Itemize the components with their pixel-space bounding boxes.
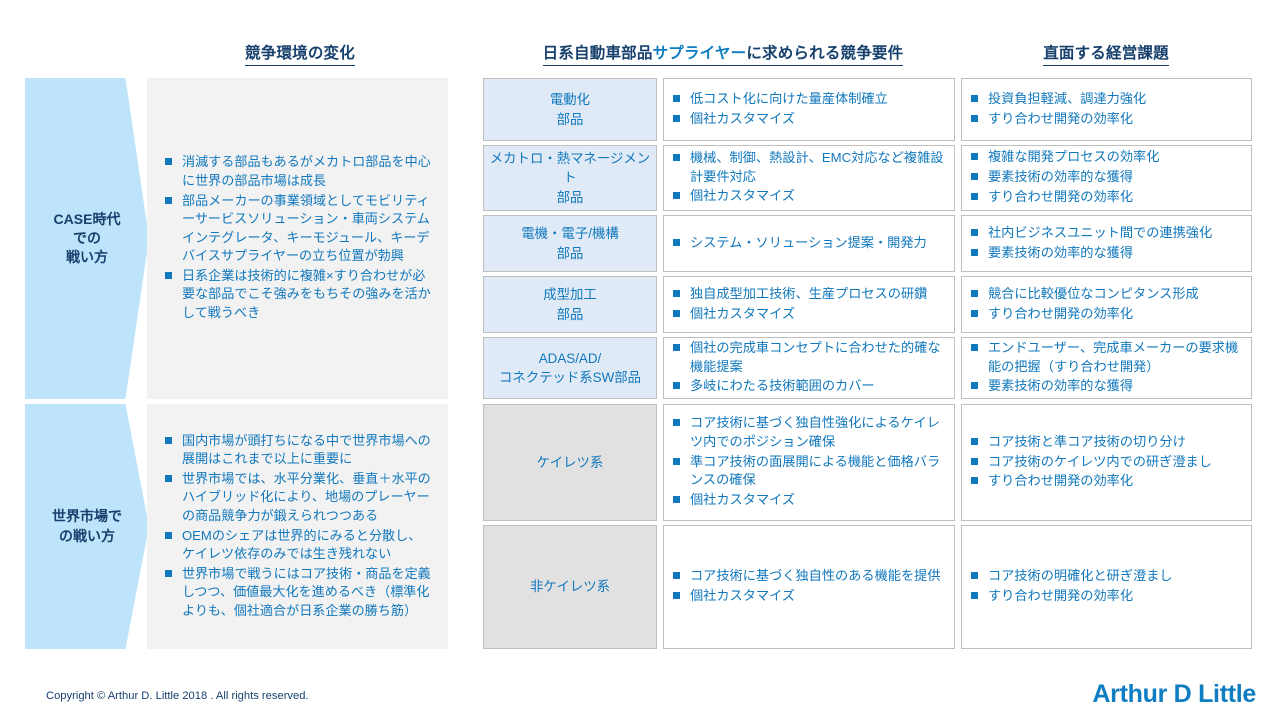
list-item: 要素技術の効率的な獲得 [969,244,1242,263]
list-item: エンドユーザー、完成車メーカーの要求機能の把握（すり合わせ開発） [969,339,1242,376]
list-item: 競合に比較優位なコンピタンス形成 [969,285,1242,304]
list-item: 個社カスタマイズ [671,305,945,324]
list-item: コア技術に基づく独自性のある機能を提供 [671,567,945,586]
list-item: 個社カスタマイズ [671,491,945,510]
column-header-2-post: に求められる競争要件 [746,45,903,62]
category-box-electrification: 電動化 部品 [483,78,657,141]
category-label-line: 電動化 [550,90,590,109]
list-item: 個社の完成車コンセプトに合わせた的確な機能提案 [671,339,945,376]
category-label-line: メカトロ・熱マネージメント [488,149,652,188]
category-label: 電機・電子/機構 部品 [521,224,618,263]
list-item: 社内ビジネスユニット間での連携強化 [969,224,1242,243]
narrative-bullet-list: 消滅する部品もあるがメカトロ部品を中心に世界の部品市場は成長 部品メーカーの事業… [163,153,434,323]
column-header-2-text: 日系自動車部品サプライヤーに求められる競争要件 [543,41,904,66]
list-item: 日系企業は技術的に複雑×すり合わせが必要な部品でこそ強みをもちその強みを活かして… [163,267,434,323]
list-item: すり合わせ開発の効率化 [969,188,1242,207]
list-item: コア技術に基づく独自性強化によるケイレツ内でのポジション確保 [671,414,945,451]
requirements-box-row-1: 低コスト化に向けた量産体制確立 個社カスタマイズ [663,78,955,141]
challenges-box-row-7: コア技術の明確化と研ぎ澄まし すり合わせ開発の効率化 [961,525,1252,649]
category-label-line: 部品 [488,188,652,207]
challenges-bullet-list: コア技術と準コア技術の切り分け コア技術のケイレツ内での研ぎ澄まし すり合わせ開… [969,433,1242,492]
category-label-line: ケイレツ系 [537,453,604,472]
list-item: すり合わせ開発の効率化 [969,587,1242,606]
list-item: コア技術のケイレツ内での研ぎ澄まし [969,453,1242,472]
list-item: すり合わせ開発の効率化 [969,110,1242,129]
requirements-bullet-list: 機械、制御、熱設計、EMC対応など複雑設計要件対応 個社カスタマイズ [671,149,945,207]
narrative-panel-global-market: 国内市場が頭打ちになる中で世界市場への展開はこれまで以上に重要に 世界市場では、… [147,404,448,649]
challenges-box-row-4: 競合に比較優位なコンピタンス形成 すり合わせ開発の効率化 [961,276,1252,333]
category-label-line: 部品 [543,305,597,324]
list-item: システム・ソリューション提案・開発力 [671,234,945,253]
category-box-non-keiretsu: 非ケイレツ系 [483,525,657,649]
challenges-box-row-3: 社内ビジネスユニット間での連携強化 要素技術の効率的な獲得 [961,215,1252,272]
requirements-bullet-list: システム・ソリューション提案・開発力 [671,234,945,254]
section-label-line: CASE時代 [54,210,121,229]
category-box-electrical-electronic-mechanism: 電機・電子/機構 部品 [483,215,657,272]
requirements-box-row-3: システム・ソリューション提案・開発力 [663,215,955,272]
challenges-bullet-list: 社内ビジネスユニット間での連携強化 要素技術の効率的な獲得 [969,224,1242,263]
category-label-line: 電機・電子/機構 [521,224,618,243]
list-item: OEMのシェアは世界的にみると分散し、ケイレツ依存のみでは生き残れない [163,527,434,564]
list-item: 個社カスタマイズ [671,187,945,206]
challenges-bullet-list: エンドユーザー、完成車メーカーの要求機能の把握（すり合わせ開発） 要素技術の効率… [969,339,1242,397]
challenges-box-row-6: コア技術と準コア技術の切り分け コア技術のケイレツ内での研ぎ澄まし すり合わせ開… [961,404,1252,521]
requirements-bullet-list: 低コスト化に向けた量産体制確立 個社カスタマイズ [671,90,945,129]
column-header-3-text: 直面する経営課題 [1043,41,1169,66]
category-box-adas-ad-connected-sw: ADAS/AD/ コネクテッド系SW部品 [483,337,657,399]
arthur-d-little-logo: Arthur D Little [1092,680,1256,709]
list-item: 準コア技術の面展開による機能と価格バランスの確保 [671,453,945,490]
category-label-line: コネクテッド系SW部品 [499,368,641,387]
category-label-line: 成型加工 [543,285,597,304]
logo-part-1: Arthur [1092,680,1167,708]
copyright-text: Copyright © Arthur D. Little 2018 . All … [46,690,309,702]
list-item: すり合わせ開発の効率化 [969,305,1242,324]
section-label-line: の戦い方 [52,527,122,546]
category-label-line: ADAS/AD/ [499,349,641,368]
column-header-2-highlight: サプライヤー [653,45,747,62]
category-label: ADAS/AD/ コネクテッド系SW部品 [499,349,641,388]
requirements-box-row-6: コア技術に基づく独自性強化によるケイレツ内でのポジション確保 準コア技術の面展開… [663,404,955,521]
section-label-line: での [54,229,121,248]
column-header-management-issues: 直面する経営課題 [960,41,1252,66]
list-item: すり合わせ開発の効率化 [969,472,1242,491]
requirements-box-row-7: コア技術に基づく独自性のある機能を提供 個社カスタマイズ [663,525,955,649]
list-item: 世界市場で戦うにはコア技術・商品を定義しつつ、価値最大化を進めるべき（標準化より… [163,565,434,621]
category-label-line: 部品 [521,244,618,263]
category-box-molding-processing: 成型加工 部品 [483,276,657,333]
section-label-global-market: 世界市場で の戦い方 [25,404,149,649]
list-item: 個社カスタマイズ [671,110,945,129]
list-item: 要素技術の効率的な獲得 [969,377,1242,396]
challenges-bullet-list: コア技術の明確化と研ぎ澄まし すり合わせ開発の効率化 [969,567,1242,606]
category-box-mechatronics-thermal: メカトロ・熱マネージメント 部品 [483,145,657,211]
list-item: 国内市場が頭打ちになる中で世界市場への展開はこれまで以上に重要に [163,432,434,469]
challenges-bullet-list: 複雑な開発プロセスの効率化 要素技術の効率的な獲得 すり合わせ開発の効率化 [969,148,1242,207]
logo-part-2: D Little [1174,680,1256,708]
slide-canvas: 競争環境の変化 日系自動車部品サプライヤーに求められる競争要件 直面する経営課題… [0,0,1280,717]
section-label-global-market-text: 世界市場で の戦い方 [52,507,122,546]
section-label-line: 戦い方 [54,248,121,267]
category-label: メカトロ・熱マネージメント 部品 [488,149,652,207]
category-label-line: 部品 [550,110,590,129]
challenges-bullet-list: 競合に比較優位なコンピタンス形成 すり合わせ開発の効率化 [969,285,1242,324]
challenges-box-row-5: エンドユーザー、完成車メーカーの要求機能の把握（すり合わせ開発） 要素技術の効率… [961,337,1252,399]
category-box-keiretsu: ケイレツ系 [483,404,657,521]
list-item: 世界市場では、水平分業化、垂直＋水平のハイブリッド化により、地場のプレーヤーの商… [163,470,434,526]
column-header-competitive-environment: 競争環境の変化 [152,41,448,66]
category-label: ケイレツ系 [537,453,604,472]
list-item: 低コスト化に向けた量産体制確立 [671,90,945,109]
list-item: 個社カスタマイズ [671,587,945,606]
requirements-bullet-list: コア技術に基づく独自性のある機能を提供 個社カスタマイズ [671,567,945,606]
challenges-bullet-list: 投資負担軽減、調達力強化 すり合わせ開発の効率化 [969,90,1242,129]
requirements-box-row-4: 独自成型加工技術、生産プロセスの研鑽 個社カスタマイズ [663,276,955,333]
list-item: 独自成型加工技術、生産プロセスの研鑽 [671,285,945,304]
list-item: 消滅する部品もあるがメカトロ部品を中心に世界の部品市場は成長 [163,153,434,190]
requirements-box-row-2: 機械、制御、熱設計、EMC対応など複雑設計要件対応 個社カスタマイズ [663,145,955,211]
requirements-bullet-list: 個社の完成車コンセプトに合わせた的確な機能提案 多岐にわたる技術範囲のカバー [671,339,945,397]
list-item: 機械、制御、熱設計、EMC対応など複雑設計要件対応 [671,149,945,186]
challenges-box-row-1: 投資負担軽減、調達力強化 すり合わせ開発の効率化 [961,78,1252,141]
requirements-box-row-5: 個社の完成車コンセプトに合わせた的確な機能提案 多岐にわたる技術範囲のカバー [663,337,955,399]
requirements-bullet-list: 独自成型加工技術、生産プロセスの研鑽 個社カスタマイズ [671,285,945,324]
list-item: 投資負担軽減、調達力強化 [969,90,1242,109]
category-label-line: 非ケイレツ系 [530,577,610,596]
narrative-panel-case-era: 消滅する部品もあるがメカトロ部品を中心に世界の部品市場は成長 部品メーカーの事業… [147,78,448,399]
section-label-case-era: CASE時代 での 戦い方 [25,78,149,399]
category-label: 成型加工 部品 [543,285,597,324]
list-item: 複雑な開発プロセスの効率化 [969,148,1242,167]
list-item: コア技術と準コア技術の切り分け [969,433,1242,452]
list-item: 部品メーカーの事業領域としてモビリティーサービスソリューション・車両システムイン… [163,192,434,266]
section-label-line: 世界市場で [52,507,122,526]
narrative-bullet-list: 国内市場が頭打ちになる中で世界市場への展開はこれまで以上に重要に 世界市場では、… [163,432,434,622]
column-header-2-pre: 日系自動車部品 [543,45,653,62]
category-label: 電動化 部品 [550,90,590,129]
list-item: 多岐にわたる技術範囲のカバー [671,377,945,396]
requirements-bullet-list: コア技術に基づく独自性強化によるケイレツ内でのポジション確保 準コア技術の面展開… [671,414,945,511]
list-item: 要素技術の効率的な獲得 [969,168,1242,187]
column-header-1-text: 競争環境の変化 [245,41,355,66]
challenges-box-row-2: 複雑な開発プロセスの効率化 要素技術の効率的な獲得 すり合わせ開発の効率化 [961,145,1252,211]
column-header-required-competencies: 日系自動車部品サプライヤーに求められる競争要件 [488,41,958,66]
category-label: 非ケイレツ系 [530,577,610,596]
section-label-case-era-text: CASE時代 での 戦い方 [54,210,121,268]
list-item: コア技術の明確化と研ぎ澄まし [969,567,1242,586]
